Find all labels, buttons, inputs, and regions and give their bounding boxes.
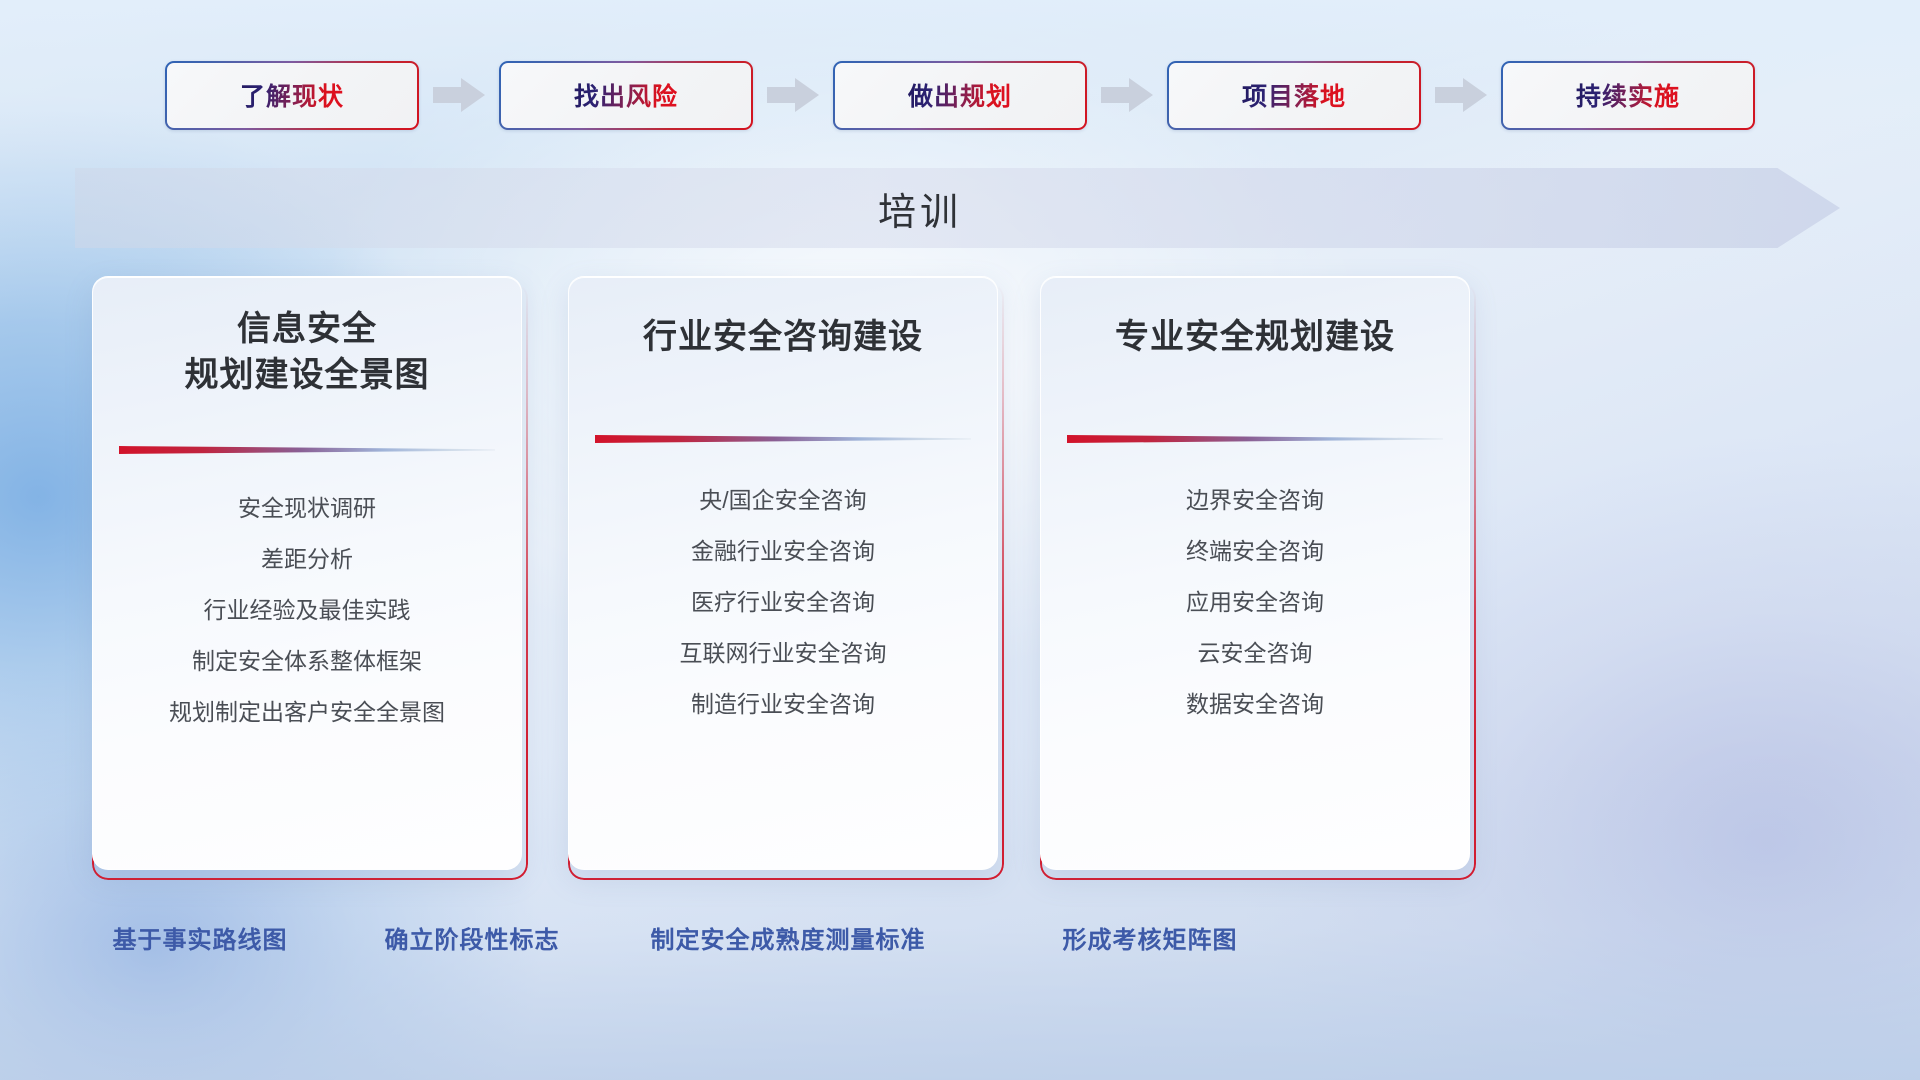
footer-labels: 基于事实路线图确立阶段性标志制定安全成熟度测量标准形成考核矩阵图 xyxy=(0,0,1920,1080)
footer-label-3: 制定安全成熟度测量标准 xyxy=(651,920,926,955)
footer-label-1: 基于事实路线图 xyxy=(113,920,288,955)
footer-label-4: 形成考核矩阵图 xyxy=(1063,920,1238,955)
footer-label-2: 确立阶段性标志 xyxy=(385,920,560,955)
